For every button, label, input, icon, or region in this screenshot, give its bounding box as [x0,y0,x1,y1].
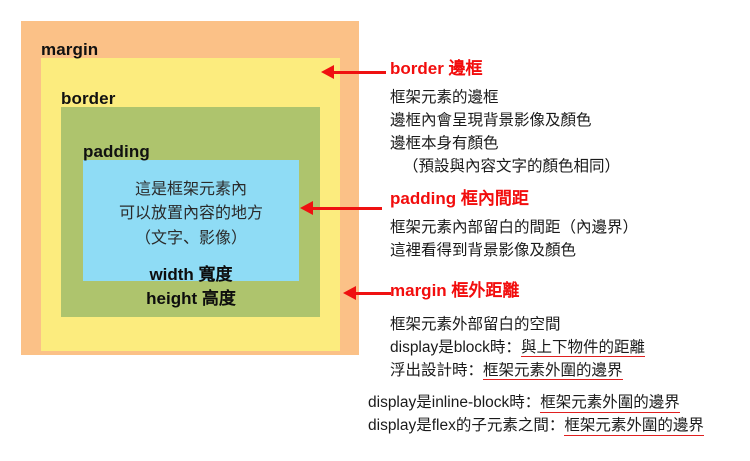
annotation-border-body: 框架元素的邊框 邊框內會呈現背景影像及顏色 邊框本身有顏色 （預設與內容文字的顏… [390,86,620,178]
content-dimensions: width 寬度 height 高度 [146,263,236,311]
annotation-extra-rules: display是inline-block時：框架元素外圍的邊界 display是… [368,391,704,437]
annotation-line: （預設與內容文字的顏色相同） [390,155,620,178]
annotation-rule-line: 浮出設計時：框架元素外圍的邊界 [390,359,645,382]
annotation-padding-body: 框架元素內部留白的間距（內邊界） 這裡看得到背景影像及顏色 [390,216,638,262]
annotation-rule-line: display是block時：與上下物件的距離 [390,336,645,359]
annotation-padding-title: padding 框內間距 [390,190,638,209]
rule-prefix: 浮出設計時： [390,362,483,379]
border-box: border padding 這是框架元素內 可以放置內容的地方 （文字、影像）… [41,58,340,351]
content-text-line: （文字、影像） [135,227,247,251]
content-box: 這是框架元素內 可以放置內容的地方 （文字、影像） width 寬度 heigh… [83,160,299,281]
height-label: height 高度 [146,287,236,311]
rule-prefix: display是flex的子元素之間： [368,417,564,434]
annotation-border: border 邊框 框架元素的邊框 邊框內會呈現背景影像及顏色 邊框本身有顏色 … [390,60,620,178]
rule-emphasis: 框架元素外圍的邊界 [564,417,704,436]
padding-label: padding [83,143,320,160]
rule-prefix: display是inline-block時： [368,394,540,411]
box-model-diagram: margin border padding 這是框架元素內 可以放置內容的地方 … [21,21,359,355]
annotation-rule-line: display是inline-block時：框架元素外圍的邊界 [368,391,704,414]
annotation-margin-body: 框架元素外部留白的空間 display是block時：與上下物件的距離 浮出設計… [390,313,645,382]
annotation-line: 框架元素外部留白的空間 [390,313,645,336]
padding-box: padding 這是框架元素內 可以放置內容的地方 （文字、影像） width … [61,107,320,317]
annotation-margin: margin 框外距離 框架元素外部留白的空間 display是block時：與… [390,282,645,382]
rule-prefix: display是block時： [390,339,521,356]
annotation-line: 框架元素內部留白的間距（內邊界） [390,216,638,239]
annotation-rule-line: display是flex的子元素之間：框架元素外圍的邊界 [368,414,704,437]
annotation-border-title: border 邊框 [390,60,620,79]
margin-box: margin border padding 這是框架元素內 可以放置內容的地方 … [21,21,359,355]
width-label: width 寬度 [146,263,236,287]
annotation-line: 框架元素的邊框 [390,86,620,109]
border-label: border [61,90,340,107]
content-text-line: 可以放置內容的地方 [119,202,263,226]
annotation-line: 邊框內會呈現背景影像及顏色 [390,109,620,132]
rule-emphasis: 與上下物件的距離 [521,339,645,358]
content-text-line: 這是框架元素內 [135,178,247,202]
rule-emphasis: 框架元素外圍的邊界 [540,394,680,413]
rule-emphasis: 框架元素外圍的邊界 [483,362,623,381]
annotation-line: 邊框本身有顏色 [390,132,620,155]
margin-label: margin [41,41,359,58]
annotation-line: 這裡看得到背景影像及顏色 [390,239,638,262]
annotation-margin-title: margin 框外距離 [390,282,645,301]
annotation-padding: padding 框內間距 框架元素內部留白的間距（內邊界） 這裡看得到背景影像及… [390,190,638,262]
